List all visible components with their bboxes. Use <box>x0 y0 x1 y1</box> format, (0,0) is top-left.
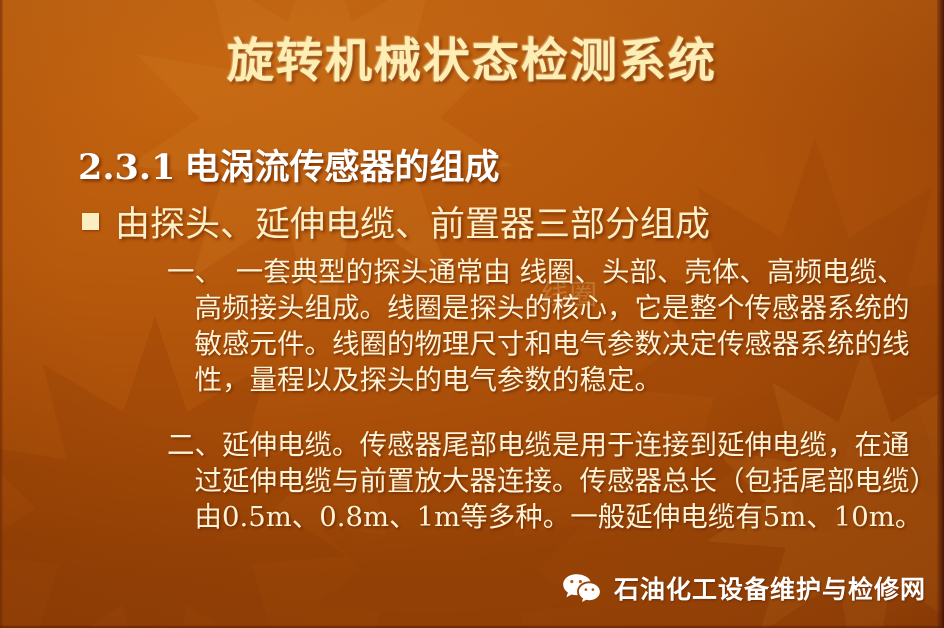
slide-frame-left <box>0 0 3 628</box>
square-bullet-icon <box>82 213 99 230</box>
footer-watermark: 石油化工设备维护与检修网 <box>562 570 926 606</box>
body-paragraph-2: 二、延伸电缆。传感器尾部电缆是用于连接到延伸电缆，在通过延伸电缆与前置放大器连接… <box>167 427 929 535</box>
paragraph-text: 一、 一套典型的探头通常由 线圈、头部、壳体、高频电缆、高频接头组成。线圈是探头… <box>167 254 929 398</box>
slide-content: 旋转机械状态检测系统 2.3.1电涡流传感器的组成 由探头、延伸电缆、前置器三部… <box>0 0 944 628</box>
bullet-list-item: 由探头、延伸电缆、前置器三部分组成 <box>82 196 710 247</box>
footer-brand-text: 石油化工设备维护与检修网 <box>614 570 926 606</box>
section-number: 2.3.1 <box>78 147 175 188</box>
section-heading: 2.3.1电涡流传感器的组成 <box>78 139 499 190</box>
paragraph-text: 二、延伸电缆。传感器尾部电缆是用于连接到延伸电缆，在通过延伸电缆与前置放大器连接… <box>167 427 929 535</box>
slide-frame-right <box>937 0 944 628</box>
page-title: 旋转机械状态检测系统 <box>0 22 944 91</box>
section-heading-text: 电涡流传感器的组成 <box>184 147 499 188</box>
bullet-item-label: 由探头、延伸电缆、前置器三部分组成 <box>115 196 710 247</box>
presentation-slide: 旋转机械状态检测系统 2.3.1电涡流传感器的组成 由探头、延伸电缆、前置器三部… <box>0 0 944 628</box>
wechat-icon <box>562 572 602 604</box>
body-paragraph-1: 一、 一套典型的探头通常由 线圈、头部、壳体、高频电缆、高频接头组成。线圈是探头… <box>167 254 929 398</box>
